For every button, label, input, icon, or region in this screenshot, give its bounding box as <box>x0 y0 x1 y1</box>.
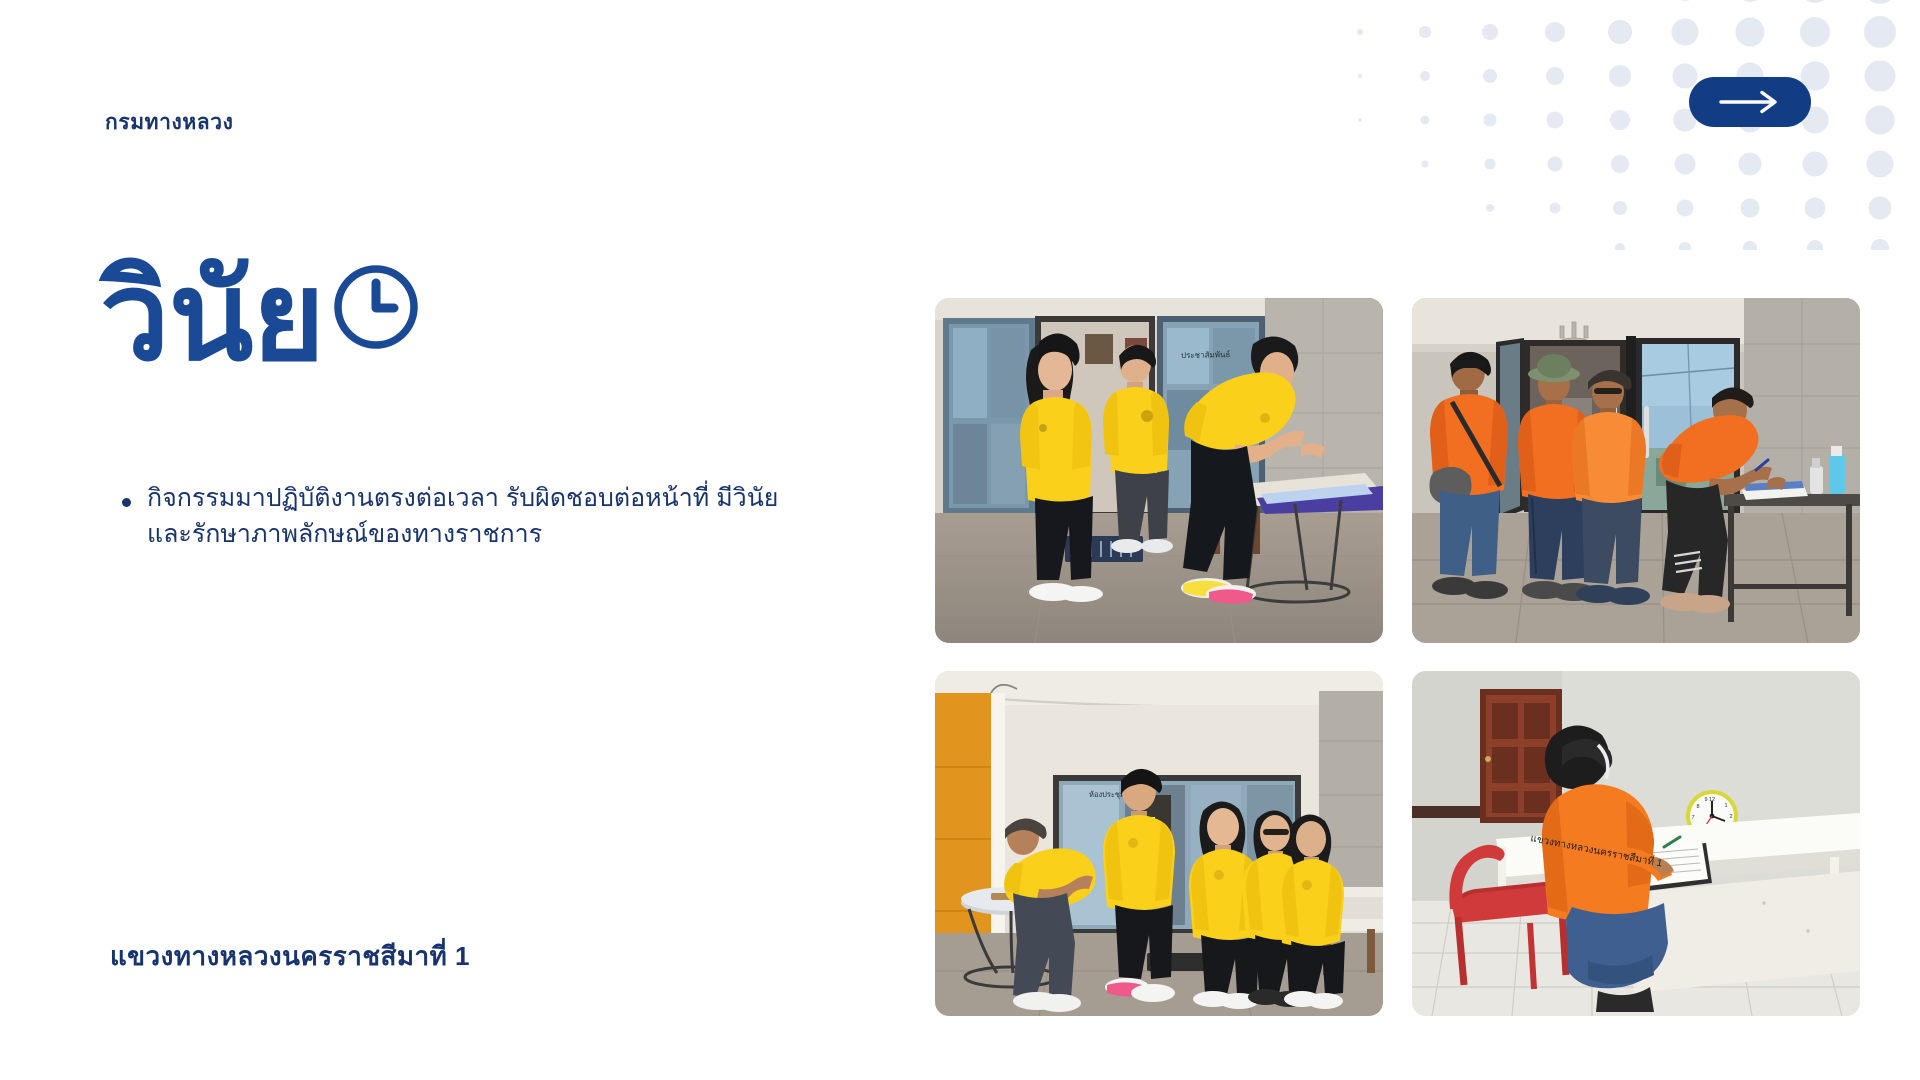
page-title: วินัย <box>100 255 324 379</box>
svg-text:1: 1 <box>1724 803 1727 809</box>
organization-name: กรมทางหลวง <box>105 106 233 139</box>
list-item: กิจกรรมมาปฏิบัติงานตรงต่อเวลา รับผิดชอบต… <box>122 481 822 552</box>
bullet-marker-icon <box>122 498 131 507</box>
headline-block: วินัย <box>100 255 422 379</box>
photo-top-right <box>1412 298 1860 643</box>
bullet-text: กิจกรรมมาปฏิบัติงานตรงต่อเวลา รับผิดชอบต… <box>147 481 822 552</box>
svg-text:2: 2 <box>1729 814 1732 820</box>
photo-bottom-right: 121 23 45 67 89 <box>1412 671 1860 1016</box>
bullet-list: กิจกรรมมาปฏิบัติงานตรงต่อเวลา รับผิดชอบต… <box>122 481 822 552</box>
department-footer: แขวงทางหลวงนครราชสีมาที่ 1 <box>110 936 470 977</box>
next-slide-button[interactable] <box>1689 77 1811 127</box>
slide-root: กรมทางหลวง วินัย กิจกรรมมาปฏิบัติงานตรงต… <box>0 0 1920 1080</box>
svg-text:9: 9 <box>1704 797 1707 803</box>
svg-text:ห้องประชุม: ห้องประชุม <box>1089 790 1125 799</box>
arrow-right-icon <box>1719 90 1781 114</box>
svg-text:ประชาสัมพันธ์: ประชาสัมพันธ์ <box>1181 349 1231 360</box>
svg-text:8: 8 <box>1696 804 1699 810</box>
svg-text:7: 7 <box>1691 815 1694 821</box>
photo-top-left: ประชาสัมพันธ์ <box>935 298 1383 643</box>
dot-pattern-decoration <box>1310 0 1920 250</box>
photo-grid: ประชาสัมพันธ์ <box>935 298 1860 1016</box>
svg-text:12: 12 <box>1709 797 1715 803</box>
photo-bottom-left: ห้องประชุม <box>935 671 1383 1016</box>
clock-icon <box>330 261 422 353</box>
